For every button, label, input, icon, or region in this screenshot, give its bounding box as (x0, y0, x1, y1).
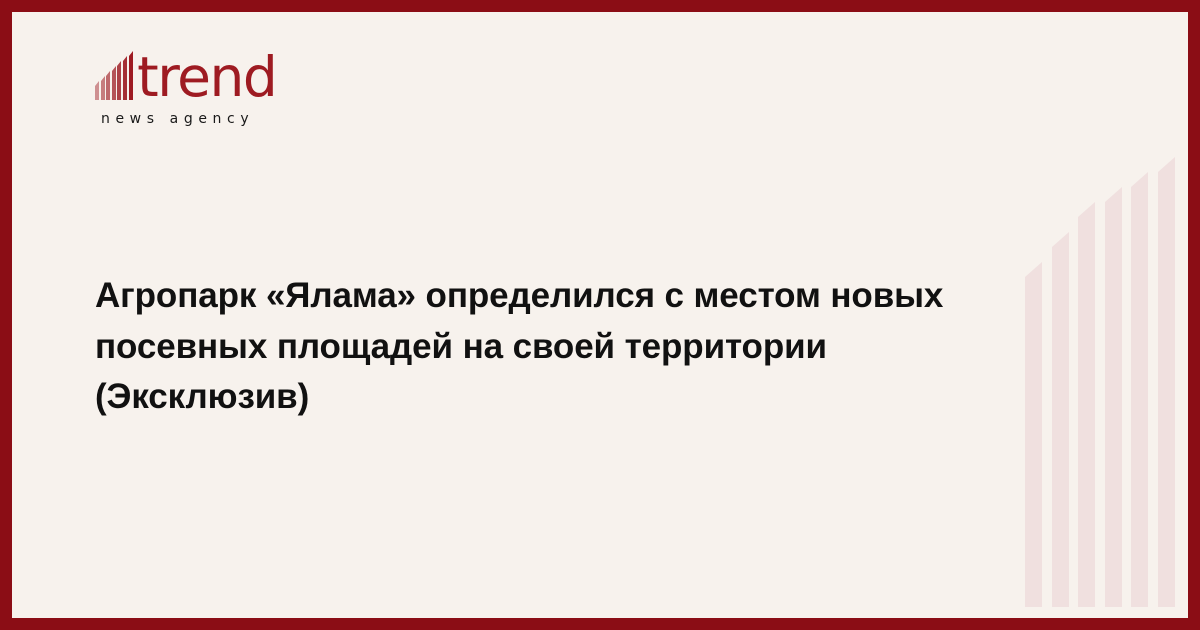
headline-line-1: Агропарк «Ялама» определился с местом но… (95, 271, 1040, 321)
logo-primary-row: trend (95, 50, 276, 102)
trend-logo[interactable]: trend news agency (95, 50, 276, 127)
logo-wordmark: trend (137, 53, 276, 103)
logo-mark-bar (117, 66, 121, 100)
logo-tagline: news agency (101, 111, 276, 127)
logo-mark-bar (95, 86, 99, 100)
trend-bars-watermark (1025, 172, 1175, 607)
og-card: trend news agency Агропарк «Ялама» опред… (0, 0, 1200, 630)
watermark-bar (1078, 217, 1095, 607)
watermark-bar (1158, 172, 1175, 607)
headline-line-2: посевных площадей на своей территории (95, 322, 1040, 372)
watermark-bar (1105, 202, 1122, 607)
headline: Агропарк «Ялама» определился с местом но… (95, 271, 1040, 422)
logo-mark-bar (129, 56, 133, 100)
watermark-bar (1052, 247, 1069, 607)
headline-line-3: (Эксклюзив) (95, 372, 1040, 422)
card-inner-surface: trend news agency Агропарк «Ялама» опред… (12, 12, 1188, 618)
watermark-bar (1131, 187, 1148, 607)
logo-mark-bar (112, 71, 116, 100)
logo-mark-bar (123, 61, 127, 100)
logo-mark-bar (101, 81, 105, 100)
logo-mark-bar (106, 76, 110, 100)
trend-bars-mark-icon (95, 56, 134, 100)
